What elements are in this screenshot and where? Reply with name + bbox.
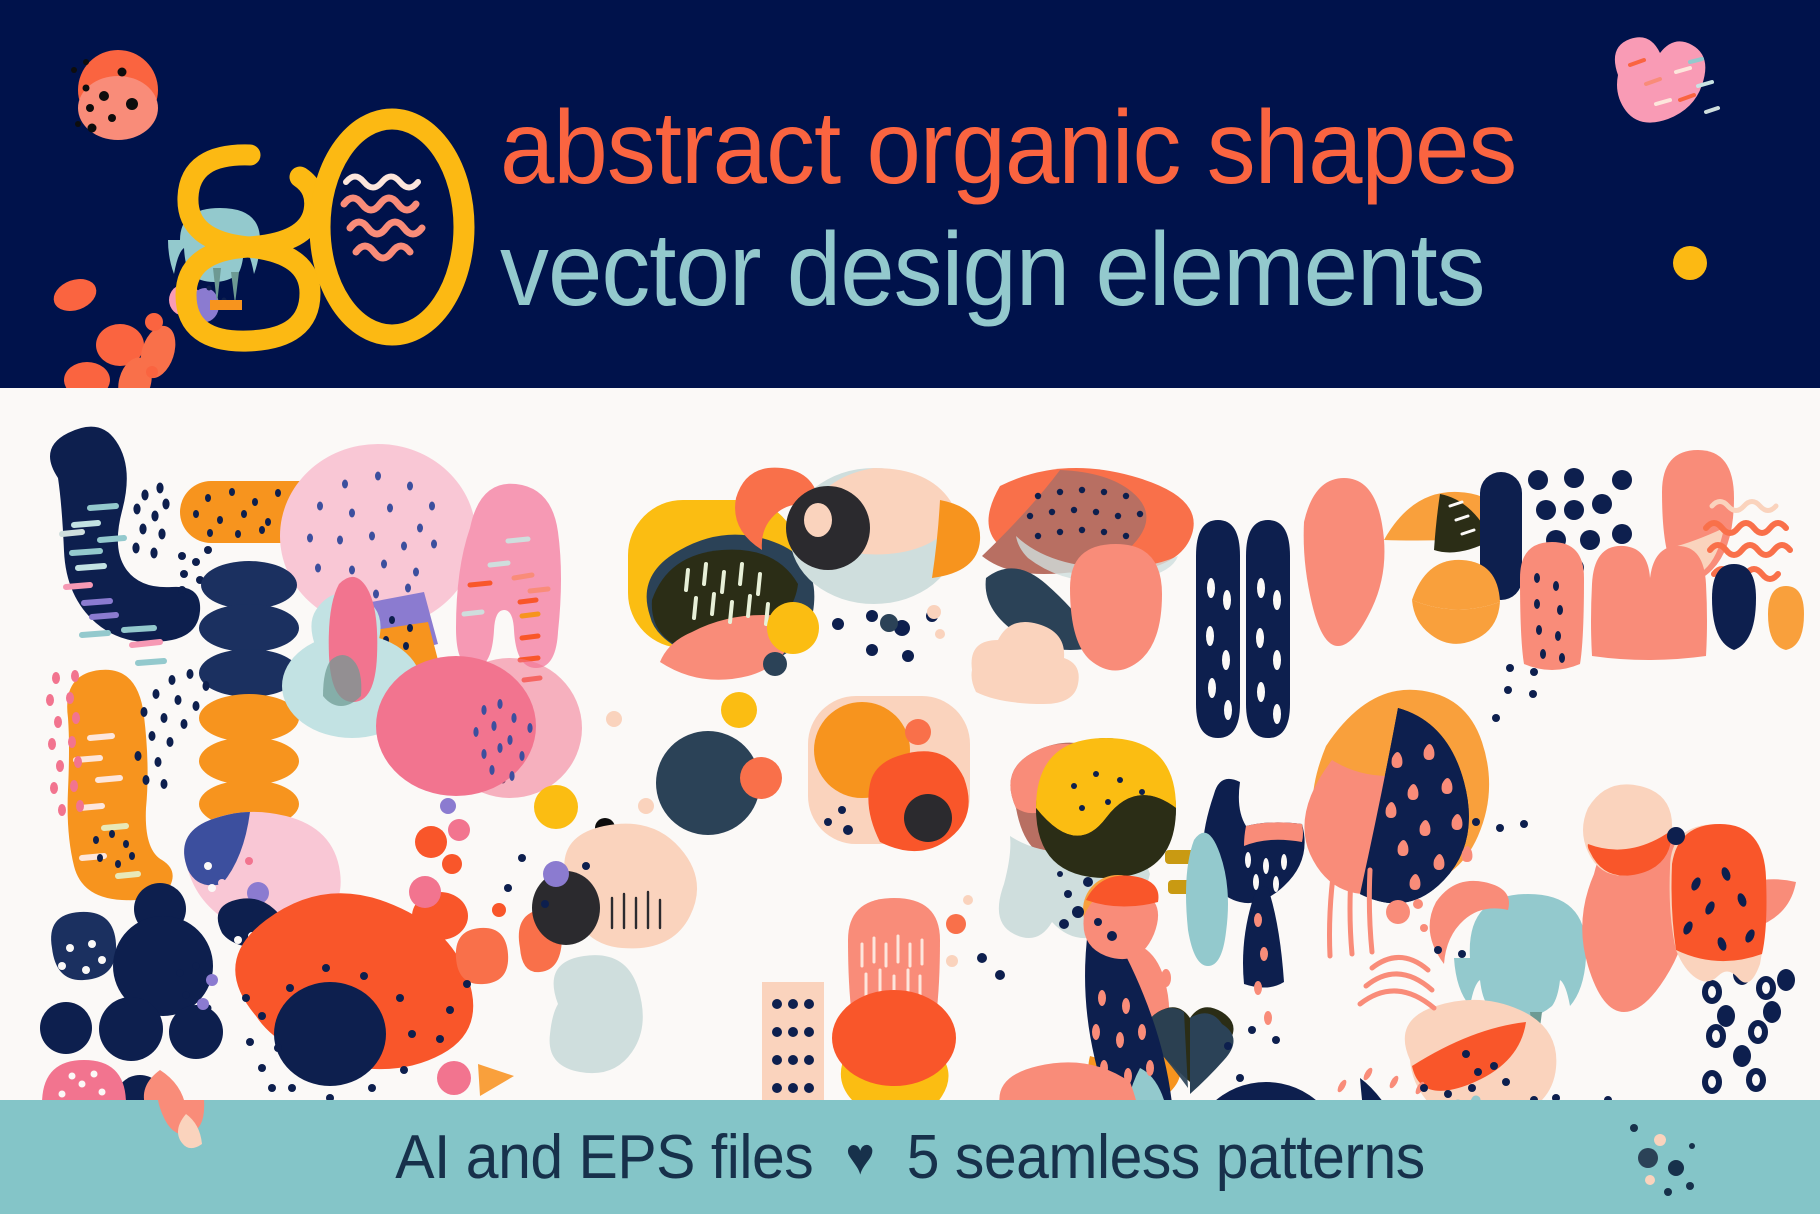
coral-crown	[1591, 546, 1707, 660]
footer-text-row: AI and EPS files ♥ 5 seamless patterns	[46, 1100, 1775, 1214]
count-80	[130, 95, 490, 360]
navy-seed-pod	[1196, 520, 1240, 738]
heart-icon: ♥	[846, 1131, 875, 1183]
footer-banner: AI and EPS files ♥ 5 seamless patterns	[0, 1100, 1820, 1214]
footer-left-text: AI and EPS files	[395, 1122, 813, 1193]
footer-right-text: 5 seamless patterns	[907, 1122, 1425, 1193]
page-headline: abstract organic shapes	[500, 96, 1440, 200]
shapes-canvas	[0, 388, 1820, 1100]
shapes-gallery	[0, 388, 1820, 1100]
poster-root: abstract organic shapes vector design el…	[0, 0, 1820, 1214]
page-subline: vector design elements	[500, 218, 1440, 322]
yellow-dot-deco	[1673, 246, 1707, 280]
header-banner: abstract organic shapes vector design el…	[0, 0, 1820, 388]
